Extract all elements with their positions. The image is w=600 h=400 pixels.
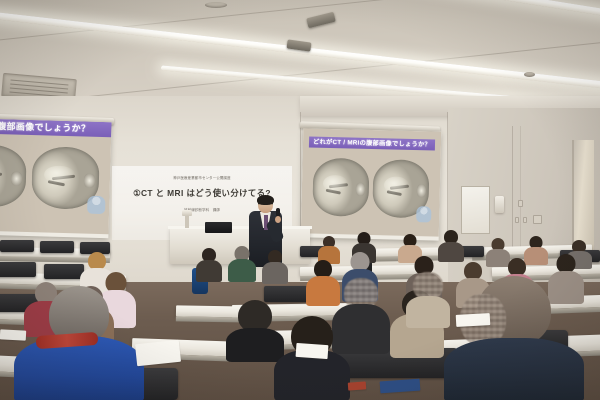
lectern-top	[168, 226, 312, 229]
audience-member-front-right	[444, 276, 584, 400]
control-panel[interactable]	[533, 215, 542, 224]
wall-telephone-icon[interactable]	[495, 196, 504, 213]
handout-paper[interactable]	[348, 381, 367, 390]
projector-screen-left: MRIの腹部画像でしょうか？	[0, 118, 112, 238]
audience-member-front-left	[14, 286, 144, 400]
presenter-hand	[275, 216, 281, 223]
presenter-hair	[257, 195, 274, 205]
audience-torso	[444, 338, 584, 400]
light-switch-panel[interactable]	[523, 217, 527, 223]
projector-screen-right: どれがCT / MRIの腹部画像でしょうか？	[301, 128, 442, 240]
patient-orientation-icon	[87, 196, 105, 214]
chair-back[interactable]	[0, 262, 36, 277]
audience-torso	[196, 260, 222, 282]
light-switch-panel[interactable]	[515, 217, 519, 223]
slide-eyebrow: 神戸医療産業都市センター公開講座	[112, 175, 292, 180]
audience-member	[228, 246, 256, 282]
wall-seam	[520, 126, 521, 256]
ct-scan-image	[312, 157, 369, 216]
right-wall-panel	[461, 186, 490, 234]
chair-back[interactable]	[44, 264, 84, 279]
chair-back[interactable]	[0, 240, 34, 252]
audience-torso	[262, 262, 288, 284]
smoke-detector-icon	[524, 72, 535, 77]
audience-member	[262, 250, 288, 284]
podium-lamp[interactable]	[185, 214, 189, 228]
handout-paper[interactable]	[456, 313, 491, 327]
handout-paper[interactable]	[296, 343, 329, 359]
patient-orientation-icon	[416, 206, 431, 222]
chair-back[interactable]	[40, 241, 74, 253]
smoke-detector-icon	[205, 2, 227, 8]
audience-torso	[228, 259, 256, 282]
lecture-hall-photo: MRIの腹部画像でしょうか？ どれがCT / MRIの腹部画像でしょうか？	[0, 0, 600, 400]
light-switch-panel[interactable]	[518, 200, 523, 207]
handout-paper[interactable]	[0, 329, 26, 340]
wall-seam	[512, 126, 513, 256]
audience-member	[318, 236, 340, 262]
handout-paper[interactable]	[135, 340, 181, 366]
audience-member	[196, 248, 222, 282]
ct-scan-image	[0, 144, 27, 208]
presentation-laptop[interactable]	[205, 222, 232, 233]
